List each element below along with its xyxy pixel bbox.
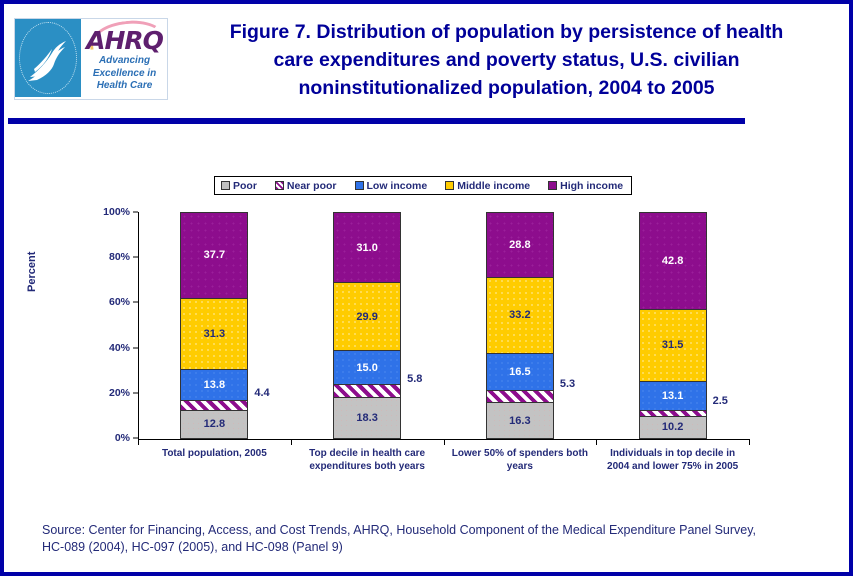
bar-segment-near-poor[interactable]	[639, 410, 707, 416]
bar-segment-middle-income[interactable]: 29.9	[333, 282, 401, 350]
bar-segment-value: 13.1	[662, 390, 683, 402]
y-tick-label: 60%	[109, 296, 130, 308]
bar-segment-outside-value: 5.8	[407, 373, 422, 385]
bar-group: 5.316.316.533.228.8	[444, 212, 597, 439]
bar-segment-value: 37.7	[204, 249, 225, 261]
x-axis-category-label-line: years	[444, 461, 597, 474]
bar-segment-high-income[interactable]: 31.0	[333, 212, 401, 282]
bar-segment-poor[interactable]: 10.2	[639, 416, 707, 439]
bar-segment-high-income[interactable]: 37.7	[180, 212, 248, 298]
bar-segment-high-income[interactable]: 42.8	[639, 212, 707, 309]
stacked-bar[interactable]: 12.813.831.337.7	[180, 212, 248, 439]
x-axis-category-label: Lower 50% of spenders bothyears	[444, 448, 597, 473]
bar-segment-value: 18.3	[356, 412, 377, 424]
x-tick-mark	[749, 439, 750, 445]
y-tick-label: 20%	[109, 387, 130, 399]
bar-segment-value: 12.8	[204, 418, 225, 430]
title-divider	[8, 118, 745, 124]
ahrq-wordmark: AHRQ Advancing Excellence in Health Care	[81, 19, 167, 99]
bar-segment-near-poor[interactable]	[333, 384, 401, 397]
x-axis-category-label-line: Individuals in top decile in	[596, 448, 749, 461]
bar-segment-value: 13.8	[204, 379, 225, 391]
source-note: Source: Center for Financing, Access, an…	[42, 522, 822, 556]
x-axis-category-label-line: 2004 and lower 75% in 2005	[596, 461, 749, 474]
figure-title-line-2: care expenditures and poverty status, U.…	[184, 46, 829, 74]
bar-group: 4.412.813.831.337.7	[138, 212, 291, 439]
bar-segment-outside-value: 2.5	[713, 395, 728, 407]
hhs-eagle-icon	[24, 31, 72, 85]
bar-segment-value: 28.8	[509, 239, 530, 251]
bar-segment-poor[interactable]: 18.3	[333, 397, 401, 439]
ahrq-tagline-1: Advancing	[85, 55, 164, 67]
bar-segment-near-poor[interactable]	[180, 400, 248, 410]
y-tick-label: 100%	[103, 206, 130, 218]
stacked-bar[interactable]: 10.213.131.542.8	[639, 212, 707, 439]
bar-segment-value: 10.2	[662, 421, 683, 433]
bar-segment-middle-income[interactable]: 33.2	[486, 277, 554, 352]
bar-segment-outside-value: 4.4	[254, 387, 269, 399]
stacked-bar[interactable]: 18.315.029.931.0	[333, 212, 401, 439]
y-tick-label: 80%	[109, 251, 130, 263]
bar-segment-low-income[interactable]: 15.0	[333, 350, 401, 384]
bar-segment-low-income[interactable]: 13.8	[180, 369, 248, 400]
bar-segment-value: 31.0	[356, 242, 377, 254]
chart: PoorNear poorLow incomeMiddle incomeHigh…	[4, 132, 849, 502]
bar-series-container: 4.412.813.831.337.75.818.315.029.931.05.…	[138, 212, 749, 439]
figure-page: AHRQ Advancing Excellence in Health Care…	[0, 0, 853, 576]
source-note-line-2: HC-089 (2004), HC-097 (2005), and HC-098…	[42, 539, 822, 556]
bar-segment-value: 33.2	[509, 309, 530, 321]
figure-title-line-3: noninstitutionalized population, 2004 to…	[184, 74, 829, 102]
x-axis-labels: Total population, 2005Top decile in heal…	[138, 448, 749, 492]
x-axis-category-label: Total population, 2005	[138, 448, 291, 461]
bar-group: 5.818.315.029.931.0	[291, 212, 444, 439]
x-axis-category-label-line: Top decile in health care	[291, 448, 444, 461]
figure-title-line-1: Figure 7. Distribution of population by …	[184, 18, 829, 46]
y-tick-label: 40%	[109, 342, 130, 354]
ahrq-tagline-2: Excellence in	[85, 68, 164, 80]
x-axis-category-label: Top decile in health careexpenditures bo…	[291, 448, 444, 473]
y-tick-label: 0%	[115, 432, 130, 444]
x-tick-mark	[138, 439, 139, 445]
bar-segment-poor[interactable]: 12.8	[180, 410, 248, 439]
bar-segment-value: 16.3	[509, 415, 530, 427]
y-axis-label: Percent	[26, 252, 38, 292]
source-note-line-1: Source: Center for Financing, Access, an…	[42, 522, 822, 539]
y-axis-ticks: 0%20%40%60%80%100%	[64, 212, 138, 438]
bar-segment-value: 16.5	[509, 366, 530, 378]
bar-segment-value: 42.8	[662, 255, 683, 267]
plot-area: Percent 0%20%40%60%80%100% 4.412.813.831…	[4, 132, 849, 502]
bar-segment-value: 31.3	[204, 328, 225, 340]
ahrq-tagline-3: Health Care	[85, 80, 164, 92]
x-axis-category-label-line: expenditures both years	[291, 461, 444, 474]
bar-segment-low-income[interactable]: 13.1	[639, 381, 707, 411]
stacked-bar[interactable]: 16.316.533.228.8	[486, 212, 554, 439]
bar-segment-outside-value: 5.3	[560, 378, 575, 390]
bar-segment-high-income[interactable]: 28.8	[486, 212, 554, 277]
hhs-seal-icon	[15, 19, 81, 97]
bar-segment-middle-income[interactable]: 31.3	[180, 298, 248, 369]
ahrq-logo: AHRQ Advancing Excellence in Health Care	[14, 18, 168, 100]
bar-group: 2.510.213.131.542.8	[596, 212, 749, 439]
figure-title: Figure 7. Distribution of population by …	[184, 18, 829, 102]
bar-segment-low-income[interactable]: 16.5	[486, 353, 554, 390]
x-tick-mark	[291, 439, 292, 445]
bar-segment-value: 31.5	[662, 339, 683, 351]
bar-segment-near-poor[interactable]	[486, 390, 554, 402]
bar-segment-poor[interactable]: 16.3	[486, 402, 554, 439]
x-tick-mark	[596, 439, 597, 445]
ahrq-acronym: AHRQ	[85, 28, 164, 54]
figure-header: AHRQ Advancing Excellence in Health Care…	[4, 4, 849, 116]
bar-segment-value: 29.9	[356, 311, 377, 323]
bar-segment-value: 15.0	[356, 362, 377, 374]
x-tick-mark	[444, 439, 445, 445]
x-axis-category-label: Individuals in top decile in2004 and low…	[596, 448, 749, 473]
x-axis-category-label-line: Lower 50% of spenders both	[444, 448, 597, 461]
bar-segment-middle-income[interactable]: 31.5	[639, 309, 707, 380]
x-axis-category-label-line: Total population, 2005	[138, 448, 291, 461]
